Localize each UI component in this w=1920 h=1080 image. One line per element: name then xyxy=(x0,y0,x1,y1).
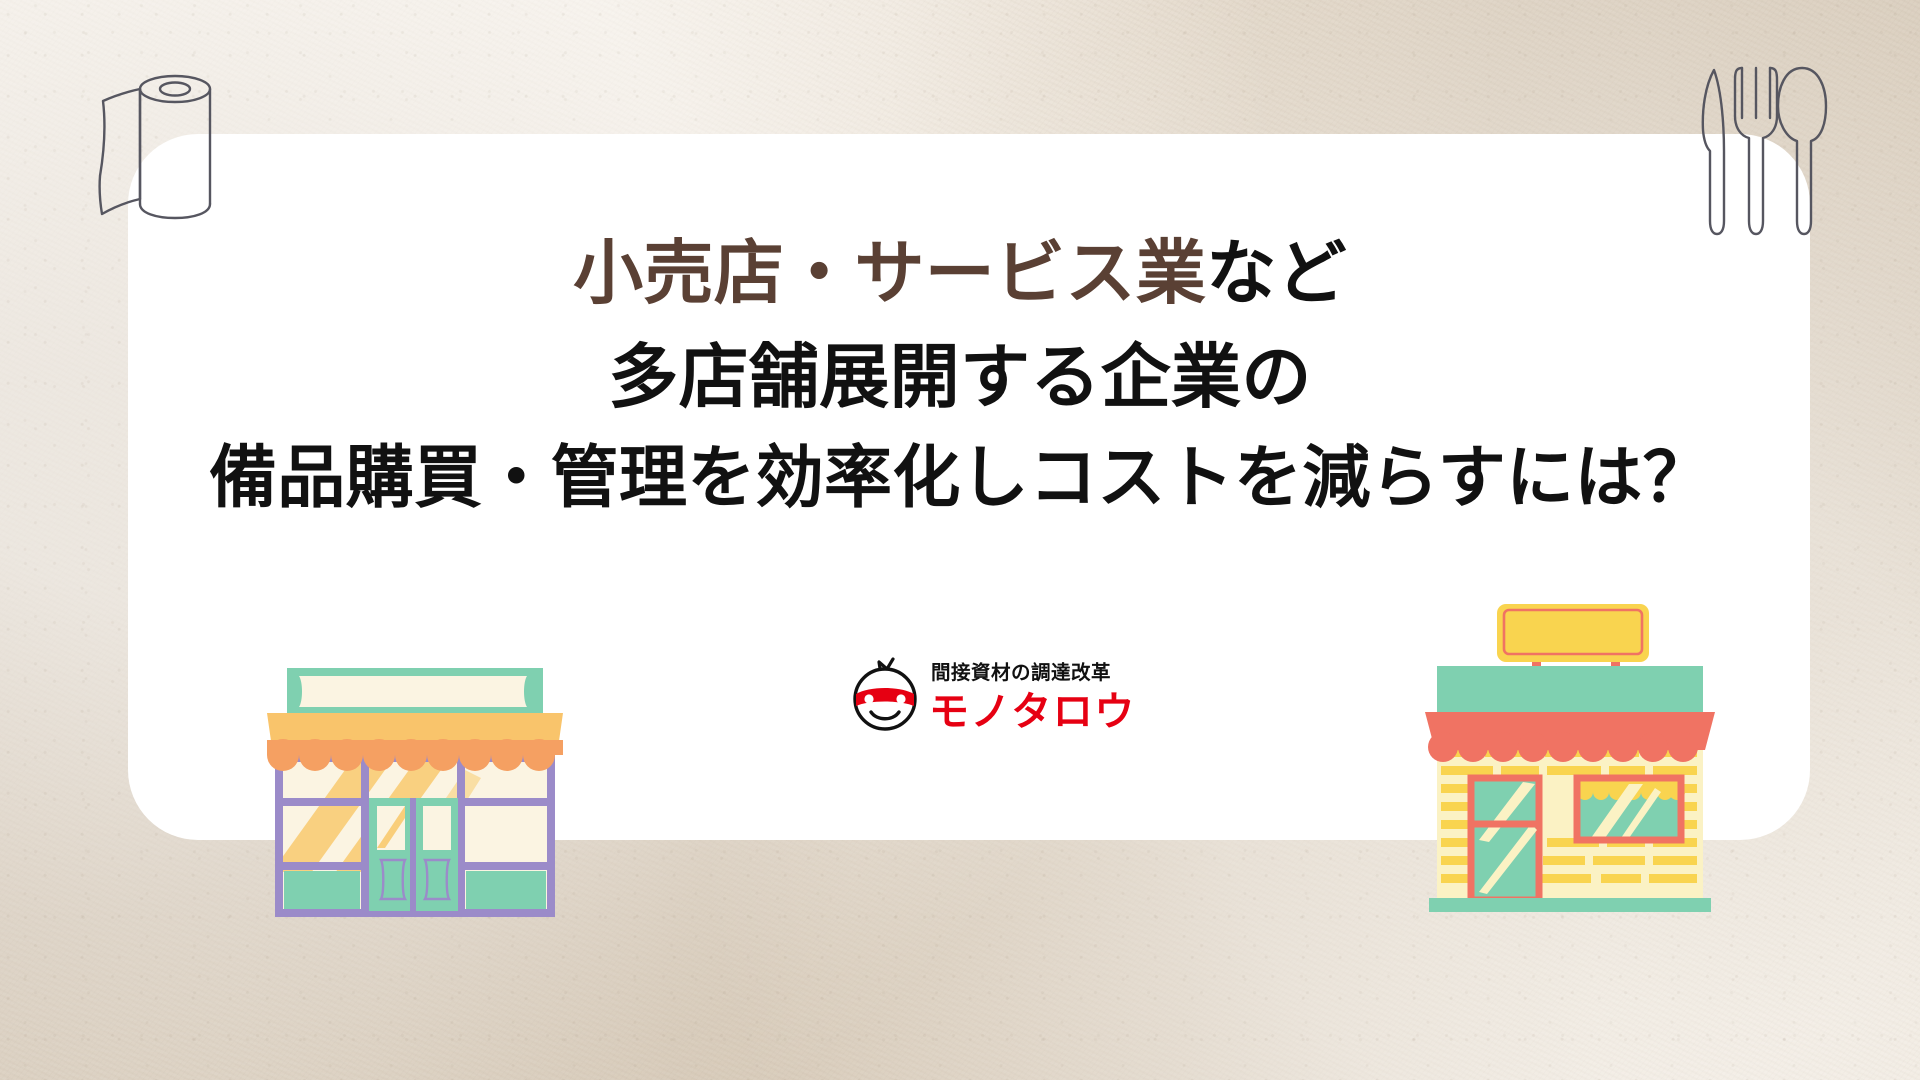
title-line-1: 小売店・サービス業など xyxy=(0,232,1920,314)
title-line-3: 備品購買・管理を効率化しコストを減らすには？ xyxy=(0,438,1920,518)
right-shop-window xyxy=(1577,778,1685,840)
right-shop-roof xyxy=(1437,666,1703,712)
spoon-icon xyxy=(1778,68,1826,234)
cutlery-icon xyxy=(1690,58,1830,238)
storefront-illustration-left xyxy=(255,648,575,928)
logo-wordmark: モノタロウ xyxy=(929,690,1136,733)
knife-icon xyxy=(1703,70,1724,234)
fork-icon xyxy=(1735,68,1777,234)
title-line-1-rest: など xyxy=(1206,234,1347,312)
title-line-1-accent: 小売店・サービス業 xyxy=(573,234,1206,312)
storefront-illustration-right xyxy=(1415,592,1725,927)
right-shop-awning-scallops xyxy=(1428,732,1698,762)
title-line-2: 多店舗展開する企業の xyxy=(0,336,1920,418)
monotaro-logo: 間接資材の調達改革 モノタロウ xyxy=(849,653,1141,733)
title-block: 小売店・サービス業など 多店舗展開する企業の 備品購買・管理を効率化しコストを減… xyxy=(0,232,1920,518)
left-shop-doors xyxy=(365,798,461,913)
right-shop-door xyxy=(1471,778,1539,900)
logo-tagline: 間接資材の調達改革 xyxy=(931,661,1111,684)
right-shop-base xyxy=(1429,898,1711,912)
right-shop-signboard xyxy=(1497,604,1649,662)
paper-towel-roll-icon xyxy=(96,56,226,221)
ninja-face-mascot xyxy=(855,659,915,729)
